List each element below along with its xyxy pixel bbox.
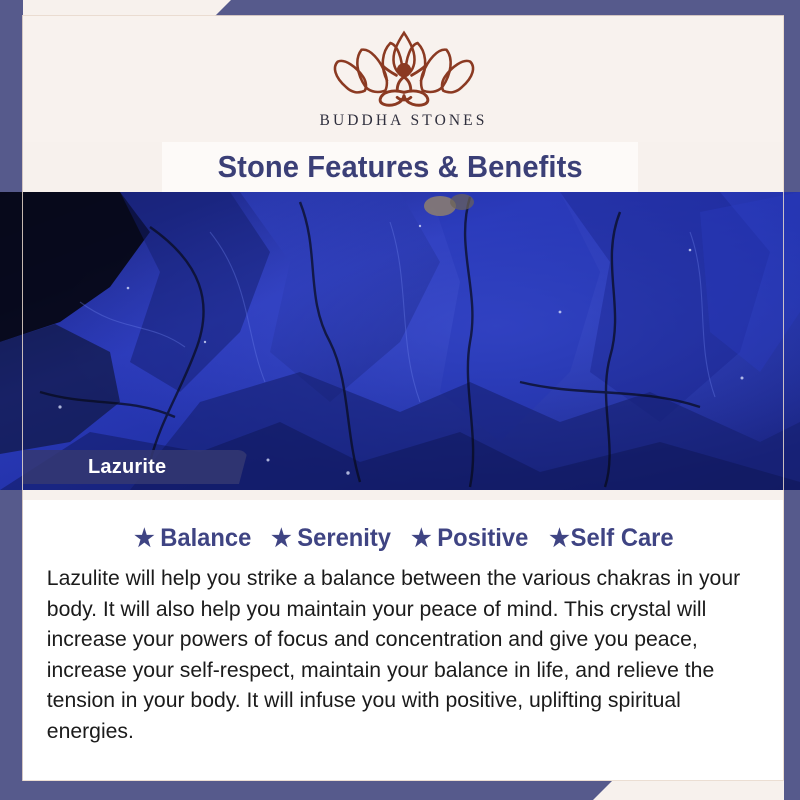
keyword-label: Balance: [160, 524, 251, 553]
stone-name-badge: Lazurite: [23, 450, 248, 484]
decor-band-bottom: [0, 781, 612, 800]
star-icon: ★: [271, 527, 291, 551]
poster-root: BUDDHA STONES Stone Features & Benefits: [0, 0, 800, 800]
keyword-label: Positive: [437, 524, 528, 553]
brand-name: BUDDHA STONES: [320, 112, 488, 130]
keyword-serenity: ★ Serenity: [271, 524, 391, 553]
keyword-label: Serenity: [297, 524, 391, 553]
keyword-positive: ★ Positive: [411, 524, 528, 553]
page-title: Stone Features & Benefits: [217, 149, 582, 185]
title-plate: Stone Features & Benefits: [162, 142, 638, 192]
decor-band-top: [215, 0, 800, 16]
keyword-list: ★ Balance ★ Serenity ★ Positive ★ Self C…: [33, 524, 774, 553]
benefits-card: ★ Balance ★ Serenity ★ Positive ★ Self C…: [23, 500, 784, 781]
keyword-self-care: ★ Self Care: [549, 524, 673, 553]
stone-name-label: Lazurite: [88, 456, 166, 479]
description-text: Lazulite will help you strike a balance …: [33, 563, 763, 746]
lotus-meditation-figure-icon: [319, 26, 489, 110]
star-icon: ★: [411, 527, 431, 551]
keyword-balance: ★ Balance: [134, 524, 251, 553]
keyword-label: Self Care: [570, 524, 673, 553]
star-icon: ★: [134, 527, 154, 551]
stone-photo: [0, 192, 800, 490]
star-icon: ★: [549, 527, 569, 551]
brand-header: BUDDHA STONES: [23, 16, 784, 142]
